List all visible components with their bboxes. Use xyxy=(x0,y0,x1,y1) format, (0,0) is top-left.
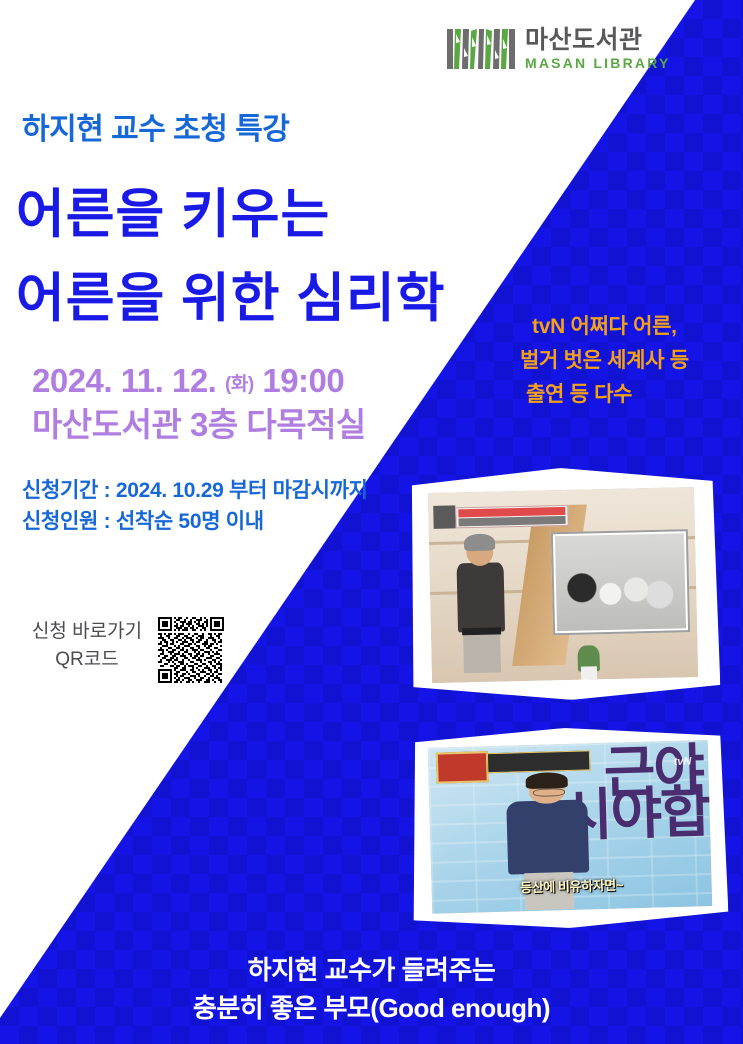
studio-screen xyxy=(551,529,690,635)
page-title-line1: 어른을 키우는 xyxy=(16,172,330,248)
application-period: 신청기간 : 2024. 10.29 부터 마감시까지 xyxy=(22,474,368,504)
tv-credit-line2: 벌거 벗은 세계사 등 xyxy=(520,344,743,378)
poster-canvas: 마산도서관 MASAN LIBRARY 하지현 교수 초청 특강 어른을 키우는… xyxy=(0,0,743,1044)
brick-speaker-hair xyxy=(526,772,568,789)
event-day-of-week: (화) xyxy=(225,374,254,395)
tv-credit-line1: tvN 어쩌다 어른, xyxy=(532,310,743,344)
bamboo-mark-icon xyxy=(447,28,515,70)
speaker-legs xyxy=(463,630,500,673)
speaker-hair xyxy=(464,533,495,551)
event-time: 19:00 xyxy=(262,362,344,399)
brick-speaker-torso xyxy=(507,800,590,875)
qr-code-svg xyxy=(158,617,224,683)
tagline-line1: 하지현 교수가 들려주는 xyxy=(0,952,743,990)
application-capacity: 신청인원 : 선착순 50명 이내 xyxy=(22,505,264,535)
qr-code-icon[interactable] xyxy=(158,617,224,683)
page-title-line2: 어른을 위한 심리학 xyxy=(16,256,446,332)
studio-plant-pot xyxy=(581,666,597,680)
photo-lecture-brick-image: 근야 시야합 tvN 등산에 비유하자면~ xyxy=(428,740,713,914)
tagline: 하지현 교수가 들려주는 충분히 좋은 부모(Good enough) xyxy=(0,952,743,1027)
speaker-belt xyxy=(462,627,500,635)
event-date: 2024. 11. 12. xyxy=(32,362,216,399)
studio-screen-photo xyxy=(555,533,686,631)
brick-speaker-glasses xyxy=(533,788,565,797)
tv-credit-line3: 출연 등 다수 xyxy=(526,378,743,412)
speaker-torso xyxy=(456,562,505,632)
logo-name-ko: 마산도서관 xyxy=(525,28,671,53)
program-tag-badge xyxy=(434,506,456,529)
event-datetime: 2024. 11. 12. (화) 19:00 xyxy=(32,362,344,400)
event-venue: 마산도서관 3층 다목적실 xyxy=(32,398,366,446)
logo-name-en: MASAN LIBRARY xyxy=(525,56,671,70)
qr-label-line2: QR코드 xyxy=(55,649,118,670)
library-logo: 마산도서관 MASAN LIBRARY xyxy=(447,28,671,70)
photo-lecture-brick: 근야 시야합 tvN 등산에 비유하자면~ xyxy=(405,724,728,933)
channel-watermark: tvN xyxy=(673,755,691,767)
studio-speaker xyxy=(456,537,507,671)
headline-bar xyxy=(487,750,590,773)
program-caption-bar xyxy=(455,505,569,529)
photo-lecture-studio xyxy=(405,465,720,704)
photo-lecture-studio-image xyxy=(428,487,698,683)
legend-badge xyxy=(436,751,488,783)
tagline-line2: 충분히 좋은 부모(Good enough) xyxy=(0,990,743,1028)
tv-credits: tvN 어쩌다 어른, 벌거 벗은 세계사 등 출연 등 다수 xyxy=(520,310,743,412)
qr-label: 신청 바로가기 QR코드 xyxy=(28,618,146,673)
qr-label-line1: 신청 바로가기 xyxy=(32,621,142,642)
kicker-text: 하지현 교수 초청 특강 xyxy=(22,104,289,148)
